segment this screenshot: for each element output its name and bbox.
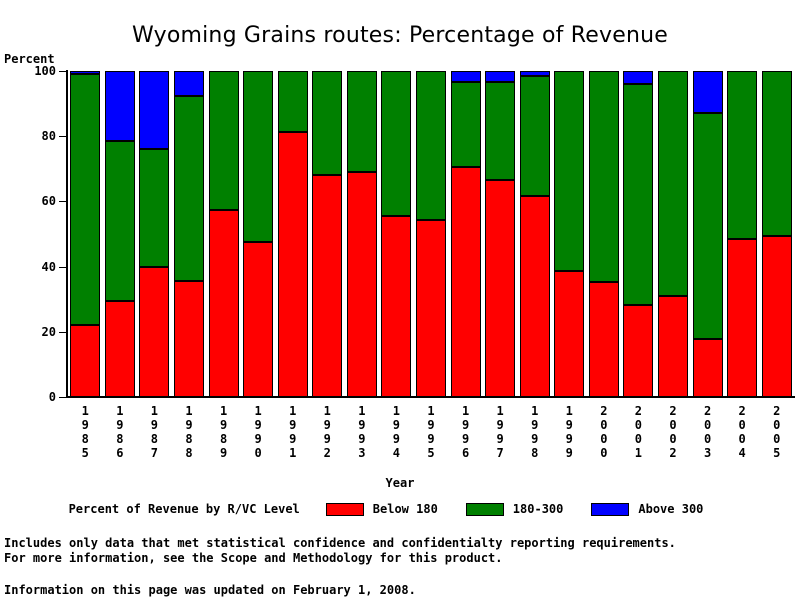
bar-segment-below-180-1995[interactable] [416, 220, 446, 397]
x-tick-digit: 6 [103, 446, 137, 460]
bar-segment-180-300-2002[interactable] [658, 71, 688, 296]
chart-title: Wyoming Grains routes: Percentage of Rev… [0, 23, 800, 48]
x-tick-digit: 5 [760, 446, 794, 460]
x-tick-digit: 0 [760, 418, 794, 432]
x-tick-label-2005: 2005 [760, 404, 794, 460]
x-tick-digit: 2 [725, 404, 759, 418]
x-tick-digit: 2 [656, 446, 690, 460]
bar-1999[interactable] [554, 71, 584, 397]
x-tick-digit: 2 [656, 404, 690, 418]
bar-2004[interactable] [727, 71, 757, 397]
legend-item-above-300[interactable]: Above 300 [591, 502, 703, 516]
bar-segment-180-300-1986[interactable] [105, 141, 135, 301]
y-tick-mark [59, 397, 67, 398]
bar-segment-180-300-1996[interactable] [451, 82, 481, 167]
chart-legend: Percent of Revenue by R/VC Level Below 1… [0, 502, 800, 516]
x-tick-digit: 9 [310, 432, 344, 446]
bar-segment-below-180-1988[interactable] [174, 281, 204, 397]
bar-segment-above-300-1987[interactable] [139, 71, 169, 149]
x-tick-digit: 2 [587, 404, 621, 418]
x-tick-digit: 9 [552, 418, 586, 432]
x-tick-label-1988: 1988 [172, 404, 206, 460]
bar-1987[interactable] [139, 71, 169, 397]
x-tick-digit: 9 [137, 418, 171, 432]
bar-1985[interactable] [70, 71, 100, 397]
legend-label-180-300: 180-300 [513, 502, 564, 516]
x-tick-label-1992: 1992 [310, 404, 344, 460]
bar-segment-below-180-1990[interactable] [243, 242, 273, 397]
bar-segment-below-180-1996[interactable] [451, 167, 481, 397]
x-tick-digit: 9 [345, 418, 379, 432]
x-tick-label-2000: 2000 [587, 404, 621, 460]
x-tick-digit: 3 [345, 446, 379, 460]
x-tick-label-1987: 1987 [137, 404, 171, 460]
x-tick-digit: 1 [414, 404, 448, 418]
bar-segment-180-300-1998[interactable] [520, 76, 550, 196]
bar-segment-180-300-2004[interactable] [727, 71, 757, 239]
x-tick-digit: 9 [379, 418, 413, 432]
x-tick-digit: 0 [621, 432, 655, 446]
x-tick-digit: 0 [587, 446, 621, 460]
bar-segment-below-180-1991[interactable] [278, 132, 308, 397]
x-tick-label-2004: 2004 [725, 404, 759, 460]
x-tick-digit: 2 [621, 404, 655, 418]
bar-segment-below-180-2002[interactable] [658, 296, 688, 397]
legend-label-below-180: Below 180 [373, 502, 438, 516]
x-tick-digit: 5 [68, 446, 102, 460]
bar-segment-below-180-2000[interactable] [589, 282, 619, 397]
bar-1989[interactable] [209, 71, 239, 397]
plot-area [68, 71, 794, 397]
x-tick-digit: 5 [414, 446, 448, 460]
x-tick-digit: 1 [68, 404, 102, 418]
bar-1993[interactable] [347, 71, 377, 397]
x-tick-digit: 9 [172, 418, 206, 432]
bar-1997[interactable] [485, 71, 515, 397]
bar-segment-180-300-1991[interactable] [278, 71, 308, 132]
bar-segment-above-300-1997[interactable] [485, 71, 515, 82]
x-tick-digit: 9 [379, 432, 413, 446]
x-tick-label-1986: 1986 [103, 404, 137, 460]
x-tick-digit: 1 [207, 404, 241, 418]
bar-segment-above-300-1986[interactable] [105, 71, 135, 141]
x-tick-digit: 9 [241, 418, 275, 432]
x-tick-label-1997: 1997 [483, 404, 517, 460]
x-tick-label-1985: 1985 [68, 404, 102, 460]
x-tick-digit: 0 [691, 418, 725, 432]
x-tick-digit: 4 [725, 446, 759, 460]
x-tick-digit: 9 [414, 418, 448, 432]
x-tick-digit: 9 [483, 432, 517, 446]
bar-segment-180-300-1995[interactable] [416, 71, 446, 220]
bar-segment-180-300-1988[interactable] [174, 96, 204, 281]
y-tick-label: 40 [42, 261, 56, 273]
x-tick-digit: 8 [137, 432, 171, 446]
x-tick-digit: 1 [310, 404, 344, 418]
x-tick-digit: 9 [518, 432, 552, 446]
bar-segment-below-180-2003[interactable] [693, 339, 723, 397]
x-tick-digit: 2 [691, 404, 725, 418]
bar-1988[interactable] [174, 71, 204, 397]
bar-2002[interactable] [658, 71, 688, 397]
legend-swatch-above-300 [591, 503, 629, 516]
x-tick-label-1999: 1999 [552, 404, 586, 460]
y-tick-label: 0 [49, 391, 56, 403]
x-tick-digit: 1 [276, 404, 310, 418]
bar-segment-below-180-1992[interactable] [312, 175, 342, 397]
x-tick-label-1996: 1996 [449, 404, 483, 460]
x-tick-digit: 0 [587, 432, 621, 446]
footer-note-line-1: Includes only data that met statistical … [4, 536, 676, 551]
bar-segment-below-180-1993[interactable] [347, 172, 377, 397]
bar-segment-below-180-1986[interactable] [105, 301, 135, 397]
x-tick-digit: 6 [449, 446, 483, 460]
bar-2003[interactable] [693, 71, 723, 397]
bar-segment-180-300-1999[interactable] [554, 71, 584, 271]
legend-item-180-300[interactable]: 180-300 [466, 502, 564, 516]
bar-segment-180-300-1993[interactable] [347, 71, 377, 172]
x-tick-digit: 1 [449, 404, 483, 418]
bar-segment-180-300-1992[interactable] [312, 71, 342, 175]
x-tick-digit: 1 [103, 404, 137, 418]
x-tick-digit: 0 [725, 432, 759, 446]
bar-segment-180-300-2003[interactable] [693, 113, 723, 338]
x-tick-digit: 1 [345, 404, 379, 418]
x-tick-digit: 0 [760, 432, 794, 446]
x-tick-label-1994: 1994 [379, 404, 413, 460]
x-tick-label-1993: 1993 [345, 404, 379, 460]
bar-segment-above-300-1996[interactable] [451, 71, 481, 82]
x-tick-digit: 1 [483, 404, 517, 418]
bar-segment-below-180-1987[interactable] [139, 267, 169, 397]
legend-swatch-below-180 [326, 503, 364, 516]
x-tick-digit: 0 [656, 418, 690, 432]
bar-segment-below-180-1997[interactable] [485, 180, 515, 397]
y-tick-mark [59, 267, 67, 268]
bar-segment-below-180-1998[interactable] [520, 196, 550, 397]
bar-segment-180-300-1990[interactable] [243, 71, 273, 242]
x-tick-digit: 9 [310, 418, 344, 432]
bar-1991[interactable] [278, 71, 308, 397]
x-tick-digit: 0 [656, 432, 690, 446]
bar-segment-180-300-1994[interactable] [381, 71, 411, 216]
x-tick-digit: 9 [241, 432, 275, 446]
bar-segment-180-300-2001[interactable] [623, 84, 653, 305]
bar-segment-180-300-1989[interactable] [209, 71, 239, 210]
y-tick-mark [59, 201, 67, 202]
x-tick-digit: 9 [449, 432, 483, 446]
x-tick-label-2002: 2002 [656, 404, 690, 460]
x-tick-digit: 7 [137, 446, 171, 460]
bar-segment-above-300-2003[interactable] [693, 71, 723, 113]
bar-segment-180-300-1987[interactable] [139, 149, 169, 267]
footer-update-line: Information on this page was updated on … [4, 583, 416, 598]
x-tick-digit: 1 [241, 404, 275, 418]
x-tick-label-1995: 1995 [414, 404, 448, 460]
x-tick-digit: 8 [518, 446, 552, 460]
x-tick-digit: 9 [552, 446, 586, 460]
x-tick-digit: 8 [207, 432, 241, 446]
x-axis-title: Year [0, 476, 800, 490]
x-tick-digit: 9 [68, 418, 102, 432]
bar-1998[interactable] [520, 71, 550, 397]
y-tick-label: 80 [42, 130, 56, 142]
x-tick-label-1989: 1989 [207, 404, 241, 460]
bar-1986[interactable] [105, 71, 135, 397]
x-tick-label-2001: 2001 [621, 404, 655, 460]
x-tick-digit: 9 [345, 432, 379, 446]
bar-1992[interactable] [312, 71, 342, 397]
bar-segment-below-180-1999[interactable] [554, 271, 584, 397]
bar-segment-below-180-1985[interactable] [70, 325, 100, 397]
bar-segment-below-180-2004[interactable] [727, 239, 757, 397]
x-tick-digit: 3 [691, 446, 725, 460]
x-tick-digit: 0 [691, 432, 725, 446]
x-tick-digit: 9 [414, 432, 448, 446]
bar-2000[interactable] [589, 71, 619, 397]
x-tick-digit: 9 [552, 432, 586, 446]
x-tick-digit: 2 [310, 446, 344, 460]
y-tick-mark [59, 136, 67, 137]
bar-segment-above-300-2001[interactable] [623, 71, 653, 84]
bar-1990[interactable] [243, 71, 273, 397]
bar-segment-above-300-1985[interactable] [70, 71, 100, 74]
bar-segment-below-180-1989[interactable] [209, 210, 239, 397]
x-tick-digit: 1 [172, 404, 206, 418]
y-tick-label: 60 [42, 195, 56, 207]
bar-segment-180-300-2005[interactable] [762, 71, 792, 236]
x-tick-digit: 9 [449, 418, 483, 432]
y-tick-mark [59, 332, 67, 333]
x-tick-digit: 8 [172, 432, 206, 446]
x-tick-digit: 0 [241, 446, 275, 460]
bar-1995[interactable] [416, 71, 446, 397]
bar-segment-below-180-1994[interactable] [381, 216, 411, 397]
x-tick-digit: 1 [379, 404, 413, 418]
x-tick-digit: 0 [621, 418, 655, 432]
x-tick-digit: 9 [103, 418, 137, 432]
bar-segment-below-180-2001[interactable] [623, 305, 653, 397]
x-tick-digit: 1 [552, 404, 586, 418]
legend-item-below-180[interactable]: Below 180 [326, 502, 438, 516]
x-tick-digit: 7 [483, 446, 517, 460]
x-tick-digit: 1 [518, 404, 552, 418]
bar-segment-above-300-1988[interactable] [174, 71, 204, 96]
y-tick-label: 20 [42, 326, 56, 338]
x-tick-digit: 9 [207, 418, 241, 432]
bar-segment-180-300-1997[interactable] [485, 82, 515, 179]
bar-2001[interactable] [623, 71, 653, 397]
x-tick-digit: 8 [68, 432, 102, 446]
x-tick-digit: 1 [137, 404, 171, 418]
x-tick-digit: 8 [172, 446, 206, 460]
legend-swatch-180-300 [466, 503, 504, 516]
x-tick-label-2003: 2003 [691, 404, 725, 460]
y-tick-mark [59, 71, 67, 72]
x-tick-label-1990: 1990 [241, 404, 275, 460]
x-tick-digit: 9 [276, 418, 310, 432]
bar-segment-above-300-1998[interactable] [520, 71, 550, 76]
x-tick-label-1998: 1998 [518, 404, 552, 460]
x-tick-digit: 1 [621, 446, 655, 460]
x-tick-digit: 4 [379, 446, 413, 460]
legend-title: Percent of Revenue by R/VC Level [69, 502, 300, 516]
x-tick-digit: 1 [276, 446, 310, 460]
bar-1996[interactable] [451, 71, 481, 397]
x-tick-digit: 2 [760, 404, 794, 418]
x-tick-digit: 8 [103, 432, 137, 446]
x-tick-digit: 0 [725, 418, 759, 432]
bar-segment-180-300-2000[interactable] [589, 71, 619, 282]
x-tick-label-1991: 1991 [276, 404, 310, 460]
y-tick-label: 100 [34, 65, 56, 77]
bar-1994[interactable] [381, 71, 411, 397]
x-tick-digit: 9 [276, 432, 310, 446]
bar-segment-180-300-1985[interactable] [70, 74, 100, 325]
bar-segment-below-180-2005[interactable] [762, 236, 792, 397]
x-tick-digit: 9 [518, 418, 552, 432]
bar-2005[interactable] [762, 71, 792, 397]
x-tick-digit: 9 [483, 418, 517, 432]
x-tick-digit: 9 [207, 446, 241, 460]
footer-note-line-2: For more information, see the Scope and … [4, 551, 503, 566]
legend-label-above-300: Above 300 [638, 502, 703, 516]
x-tick-digit: 0 [587, 418, 621, 432]
